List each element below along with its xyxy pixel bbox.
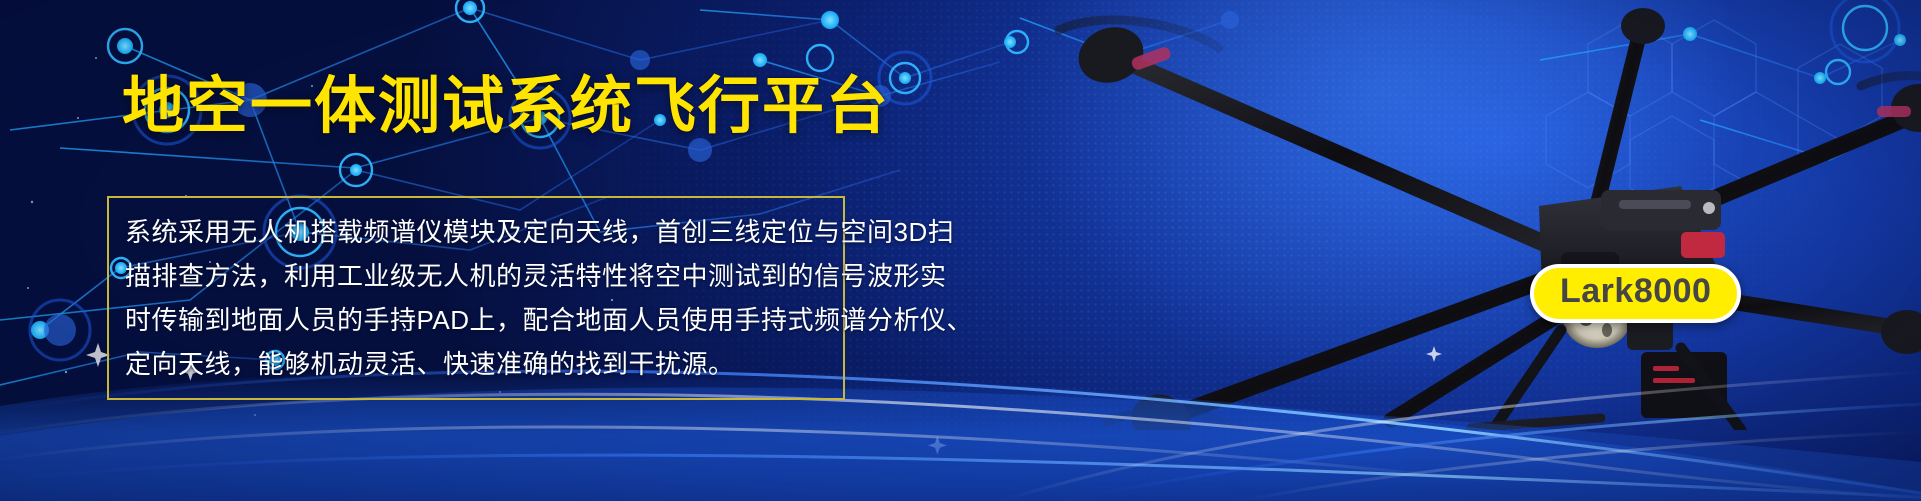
description-line-2: 描排查方法，利用工业级无人机的灵活特性将空中测试到的信号波形实 [125, 254, 827, 298]
description-box: 系统采用无人机搭载频谱仪模块及定向天线，首创三线定位与空间3D扫 描排查方法，利… [107, 196, 845, 400]
description-line-3: 时传输到地面人员的手持PAD上，配合地面人员使用手持式频谱分析仪、 [125, 298, 827, 342]
description-line-4: 定向天线，能够机动灵活、快速准确的找到干扰源。 [125, 342, 827, 386]
page-title: 地空一体测试系统飞行平台 [122, 76, 890, 138]
description-line-1: 系统采用无人机搭载频谱仪模块及定向天线，首创三线定位与空间3D扫 [125, 210, 827, 254]
promotional-banner: 地空一体测试系统飞行平台 系统采用无人机搭载频谱仪模块及定向天线，首创三线定位与… [0, 0, 1921, 501]
model-badge: Lark8000 [1530, 264, 1741, 323]
